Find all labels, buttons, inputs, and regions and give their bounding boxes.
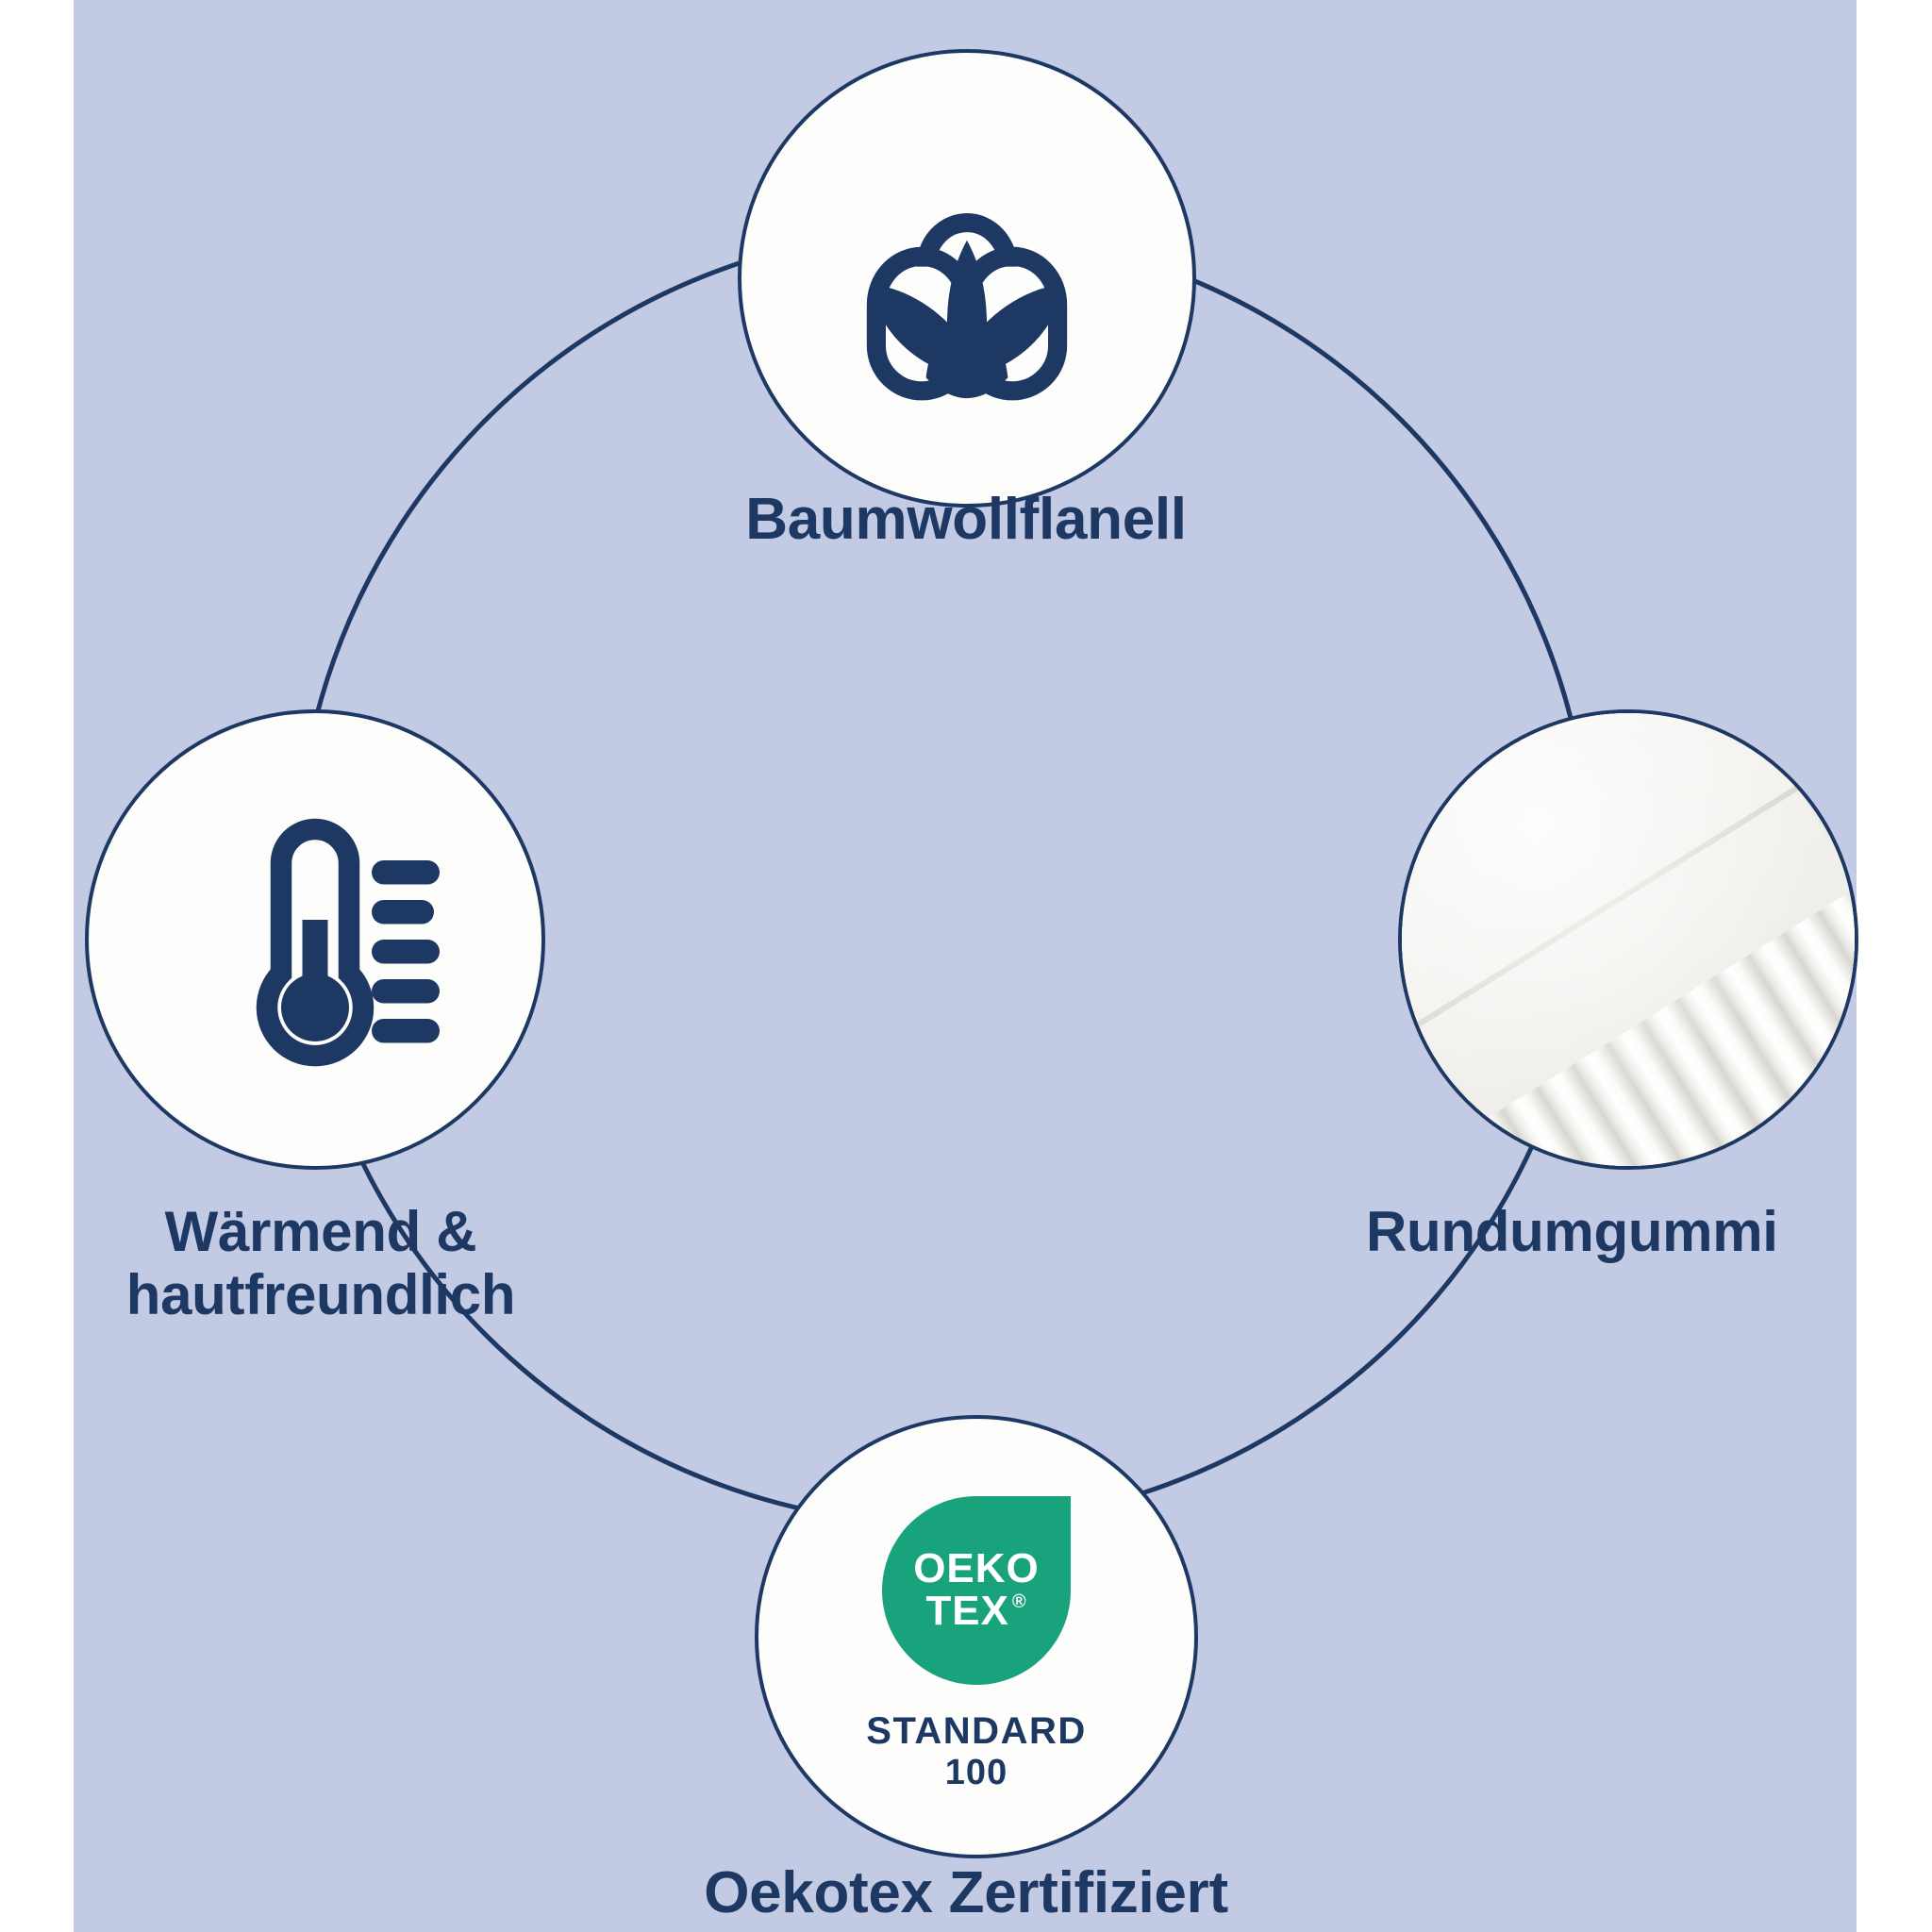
node-warm[interactable] [85,709,545,1170]
infographic-canvas: Baumwollflanell Wärmend & hautfreundlich [0,0,1932,1932]
label-oekotex: Oekotex Zertifiziert [0,1860,1932,1925]
standard-word: STANDARD [866,1709,1086,1753]
elastic-fitted-sheet-photo [1402,713,1855,1166]
label-cotton: Baumwollflanell [0,487,1932,552]
oekotex-droplet-icon: OEKO TEX ® [882,1496,1071,1685]
oekotex-line2: TEX [925,1590,1009,1633]
label-warm-line2: hautfreundlich [38,1263,604,1326]
label-warm-line1: Wärmend & [38,1200,604,1263]
oekotex-standard-text: STANDARD 100 [866,1709,1086,1794]
registered-mark: ® [1012,1592,1027,1612]
oekotex-line1: OEKO [913,1548,1040,1590]
oekotex-line2-row: TEX ® [925,1590,1026,1633]
standard-number: 100 [866,1753,1086,1794]
cotton-boll-icon [821,132,1113,425]
node-oekotex[interactable]: OEKO TEX ® STANDARD 100 [755,1415,1198,1858]
node-elastic[interactable] [1398,709,1858,1170]
photo-highlight [1402,713,1855,1166]
node-cotton[interactable] [738,49,1196,508]
label-elastic: Rundumgummi [1366,1200,1932,1263]
thermometer-icon [174,798,457,1081]
label-warm: Wärmend & hautfreundlich [38,1200,604,1326]
